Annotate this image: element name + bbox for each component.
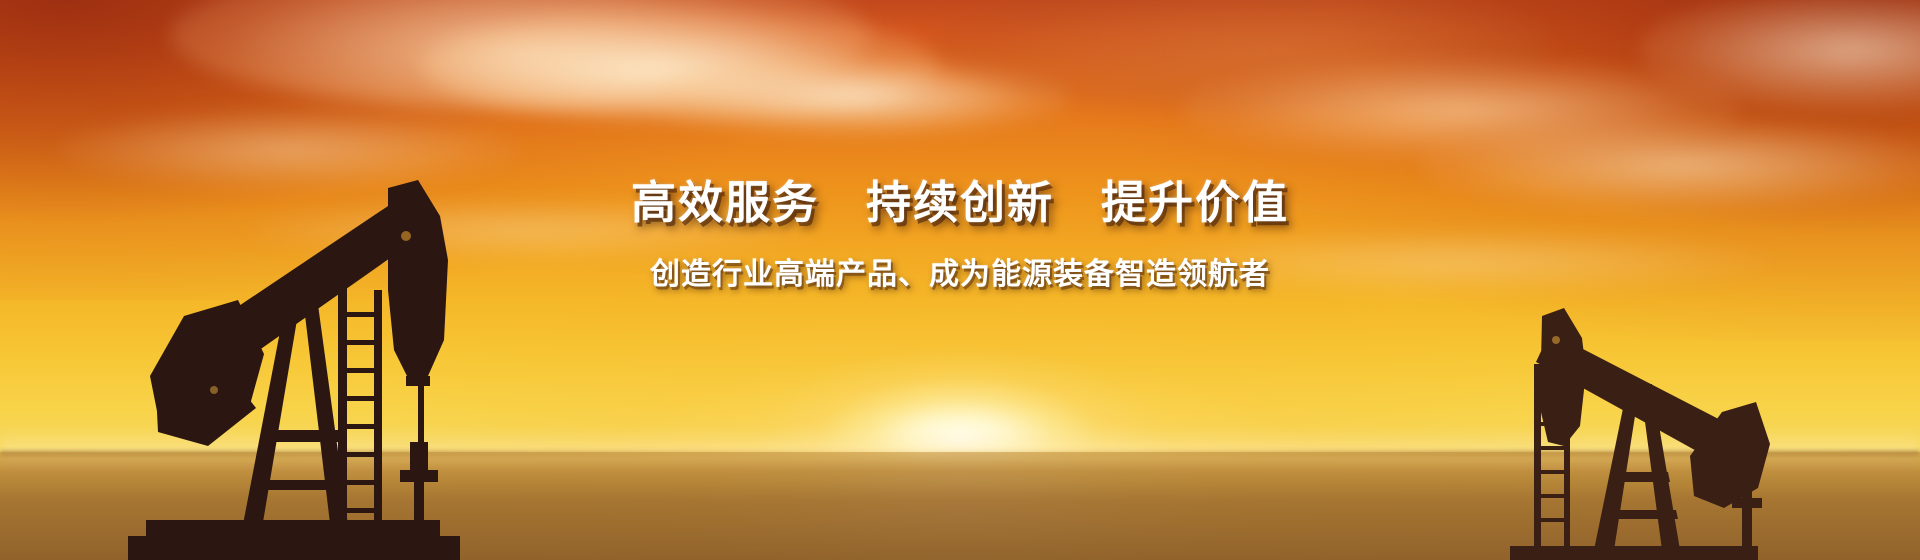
cloud-icon bbox=[1420, 120, 1920, 210]
pumpjack-right bbox=[1490, 260, 1770, 560]
pumpjack-left bbox=[88, 140, 508, 560]
hero-banner: 高效服务 持续创新 提升价值 创造行业高端产品、成为能源装备智造领航者 bbox=[0, 0, 1920, 560]
